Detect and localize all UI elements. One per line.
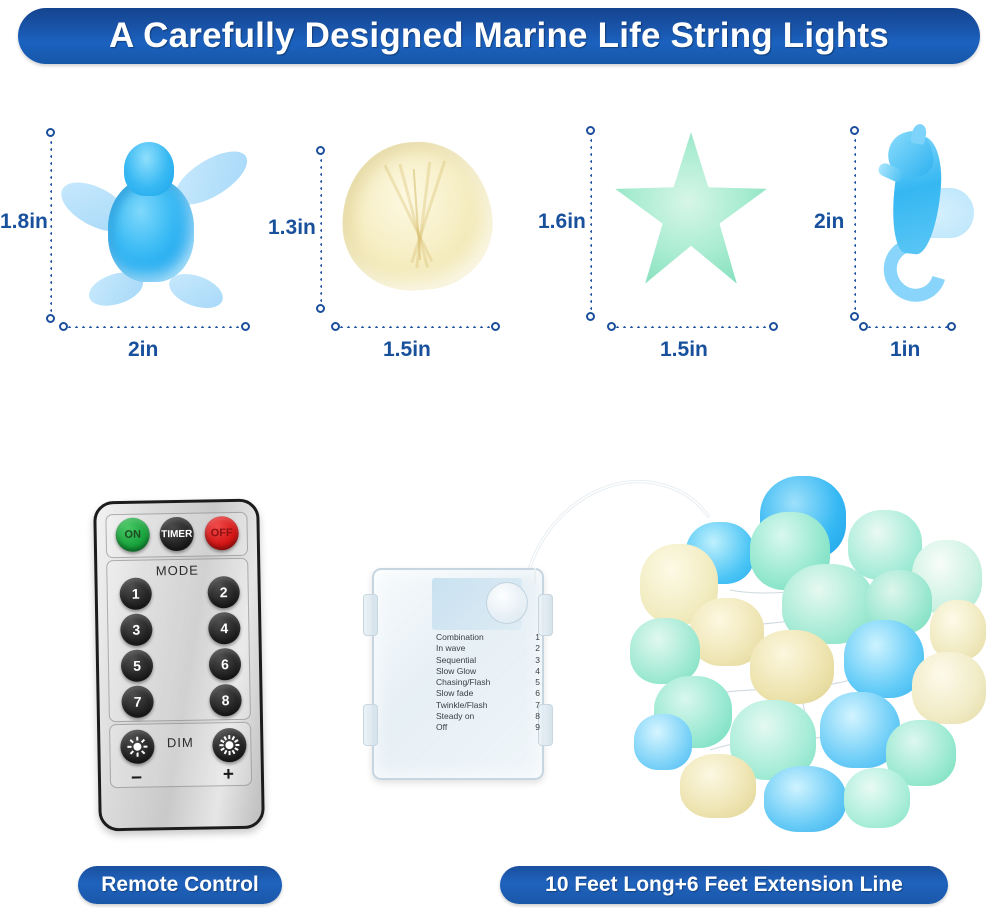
- turtle-height-label: 1.8in: [0, 210, 48, 234]
- turtle-height-dimension-line: [50, 132, 52, 318]
- mode-number: 5: [529, 677, 540, 688]
- mode-list-item: Steady on 8: [436, 711, 540, 722]
- light-bead: [630, 618, 700, 684]
- mode-list-item: Twinkle/Flash 7: [436, 700, 540, 711]
- seashell-height-endpoint-bottom: [316, 304, 325, 313]
- mode-name: Twinkle/Flash: [436, 700, 488, 711]
- seashell-width-endpoint-left: [331, 322, 340, 331]
- turtle-width-dimension-line: [66, 326, 246, 328]
- caption-remote-control-label: Remote Control: [101, 873, 259, 897]
- remote-control[interactable]: ON TIMER OFF MODE 1 2 3 4 5 6 7 8: [93, 499, 265, 832]
- turtle-head: [124, 142, 174, 196]
- starfish-height-dimension-line: [590, 130, 592, 316]
- specimen-seashell: 1.3in 1.5in: [270, 110, 540, 370]
- seashell-width-label: 1.5in: [383, 338, 431, 362]
- turtle-width-label: 2in: [128, 338, 158, 362]
- light-bead: [634, 714, 692, 770]
- starfish-height-label: 1.6in: [538, 210, 586, 234]
- starfish-height-endpoint-bottom: [586, 312, 595, 321]
- seahorse-width-label: 1in: [890, 338, 920, 362]
- starfish-width-endpoint-left: [607, 322, 616, 331]
- mode-name: Sequential: [436, 655, 476, 666]
- light-bead: [750, 630, 834, 704]
- seashell-height-endpoint-top: [316, 146, 325, 155]
- mode-number: 8: [529, 711, 540, 722]
- light-bead: [764, 766, 846, 832]
- turtle-height-endpoint-top: [46, 128, 55, 137]
- seashell-height-label: 1.3in: [268, 216, 316, 240]
- specimen-seahorse: 2in 1in: [810, 110, 1000, 370]
- seahorse-figure: [868, 130, 972, 306]
- mode-name: Combination: [436, 632, 484, 643]
- caption-length-label: 10 Feet Long+6 Feet Extension Line: [545, 873, 903, 897]
- battery-clip-left-top: [363, 594, 378, 636]
- turtle-height-endpoint-bottom: [46, 314, 55, 323]
- mode-number: 4: [529, 666, 540, 677]
- starfish-width-dimension-line: [614, 326, 774, 328]
- header-banner: A Carefully Designed Marine Life String …: [18, 8, 980, 64]
- mode-name: Off: [436, 722, 447, 733]
- battery-clip-left-bottom: [363, 704, 378, 746]
- light-bead: [844, 768, 910, 828]
- mode-number: 2: [529, 643, 540, 654]
- mode-number: 1: [529, 632, 540, 643]
- light-bead: [680, 754, 756, 818]
- seahorse-height-label: 2in: [814, 210, 844, 234]
- mode-name: Slow fade: [436, 688, 473, 699]
- seahorse-width-endpoint-left: [859, 322, 868, 331]
- light-bead: [912, 652, 986, 724]
- mode-number: 9: [529, 722, 540, 733]
- specimen-sea-turtle: 1.8in 2in: [0, 110, 270, 370]
- remote-minus-symbol: −: [131, 768, 142, 790]
- mode-list-item: Slow fade 6: [436, 688, 540, 699]
- battery-switch[interactable]: [486, 582, 528, 624]
- specimen-starfish: 1.6in 1.5in: [540, 110, 810, 370]
- seahorse-width-dimension-line: [866, 326, 952, 328]
- mode-number: 7: [529, 700, 540, 711]
- specimen-row: 1.8in 2in 1.3in 1.5in: [0, 110, 1000, 370]
- remote-dim-label: DIM: [100, 734, 260, 752]
- starfish-figure: [612, 132, 770, 290]
- mode-name: Slow Glow: [436, 666, 476, 677]
- mode-name: Steady on: [436, 711, 474, 722]
- mode-list-item: Slow Glow 4: [436, 666, 540, 677]
- mode-number: 3: [529, 655, 540, 666]
- mode-list-item: In wave 2: [436, 643, 540, 654]
- mode-name: In wave: [436, 643, 465, 654]
- mode-list-item: Sequential 3: [436, 655, 540, 666]
- mode-list-item: Combination 1: [436, 632, 540, 643]
- remote-mode-label: MODE: [97, 562, 257, 580]
- seahorse-height-endpoint-top: [850, 126, 859, 135]
- light-bead: [930, 600, 986, 660]
- starfish-height-endpoint-top: [586, 126, 595, 135]
- starfish-width-label: 1.5in: [660, 338, 708, 362]
- seahorse-width-endpoint-right: [947, 322, 956, 331]
- mode-name: Chasing/Flash: [436, 677, 490, 688]
- remote-plus-symbol: +: [223, 764, 234, 786]
- page-title: A Carefully Designed Marine Life String …: [109, 16, 889, 56]
- seashell-width-endpoint-right: [491, 322, 500, 331]
- seashell-width-dimension-line: [338, 326, 496, 328]
- turtle-width-endpoint-left: [59, 322, 68, 331]
- light-bead: [848, 510, 922, 580]
- starfish-width-endpoint-right: [769, 322, 778, 331]
- seashell-height-dimension-line: [320, 150, 322, 308]
- mode-list-item: Off 9: [436, 722, 540, 733]
- mode-number: 6: [529, 688, 540, 699]
- mode-list: Combination 1 In wave 2 Sequential 3 Slo…: [436, 632, 540, 734]
- seashell-figure: [337, 137, 497, 295]
- product-infographic: A Carefully Designed Marine Life String …: [0, 0, 1000, 908]
- battery-clip-right-top: [538, 594, 553, 636]
- string-lights-cluster: [630, 470, 990, 850]
- turtle-width-endpoint-right: [241, 322, 250, 331]
- caption-length: 10 Feet Long+6 Feet Extension Line: [500, 866, 948, 904]
- seahorse-height-dimension-line: [854, 130, 856, 316]
- sea-turtle-figure: [62, 126, 262, 322]
- battery-wire-outlet: [534, 568, 536, 584]
- battery-box: Combination 1 In wave 2 Sequential 3 Slo…: [372, 568, 544, 780]
- seahorse-height-endpoint-bottom: [850, 312, 859, 321]
- mode-list-item: Chasing/Flash 5: [436, 677, 540, 688]
- battery-clip-right-bottom: [538, 704, 553, 746]
- caption-remote-control: Remote Control: [78, 866, 282, 904]
